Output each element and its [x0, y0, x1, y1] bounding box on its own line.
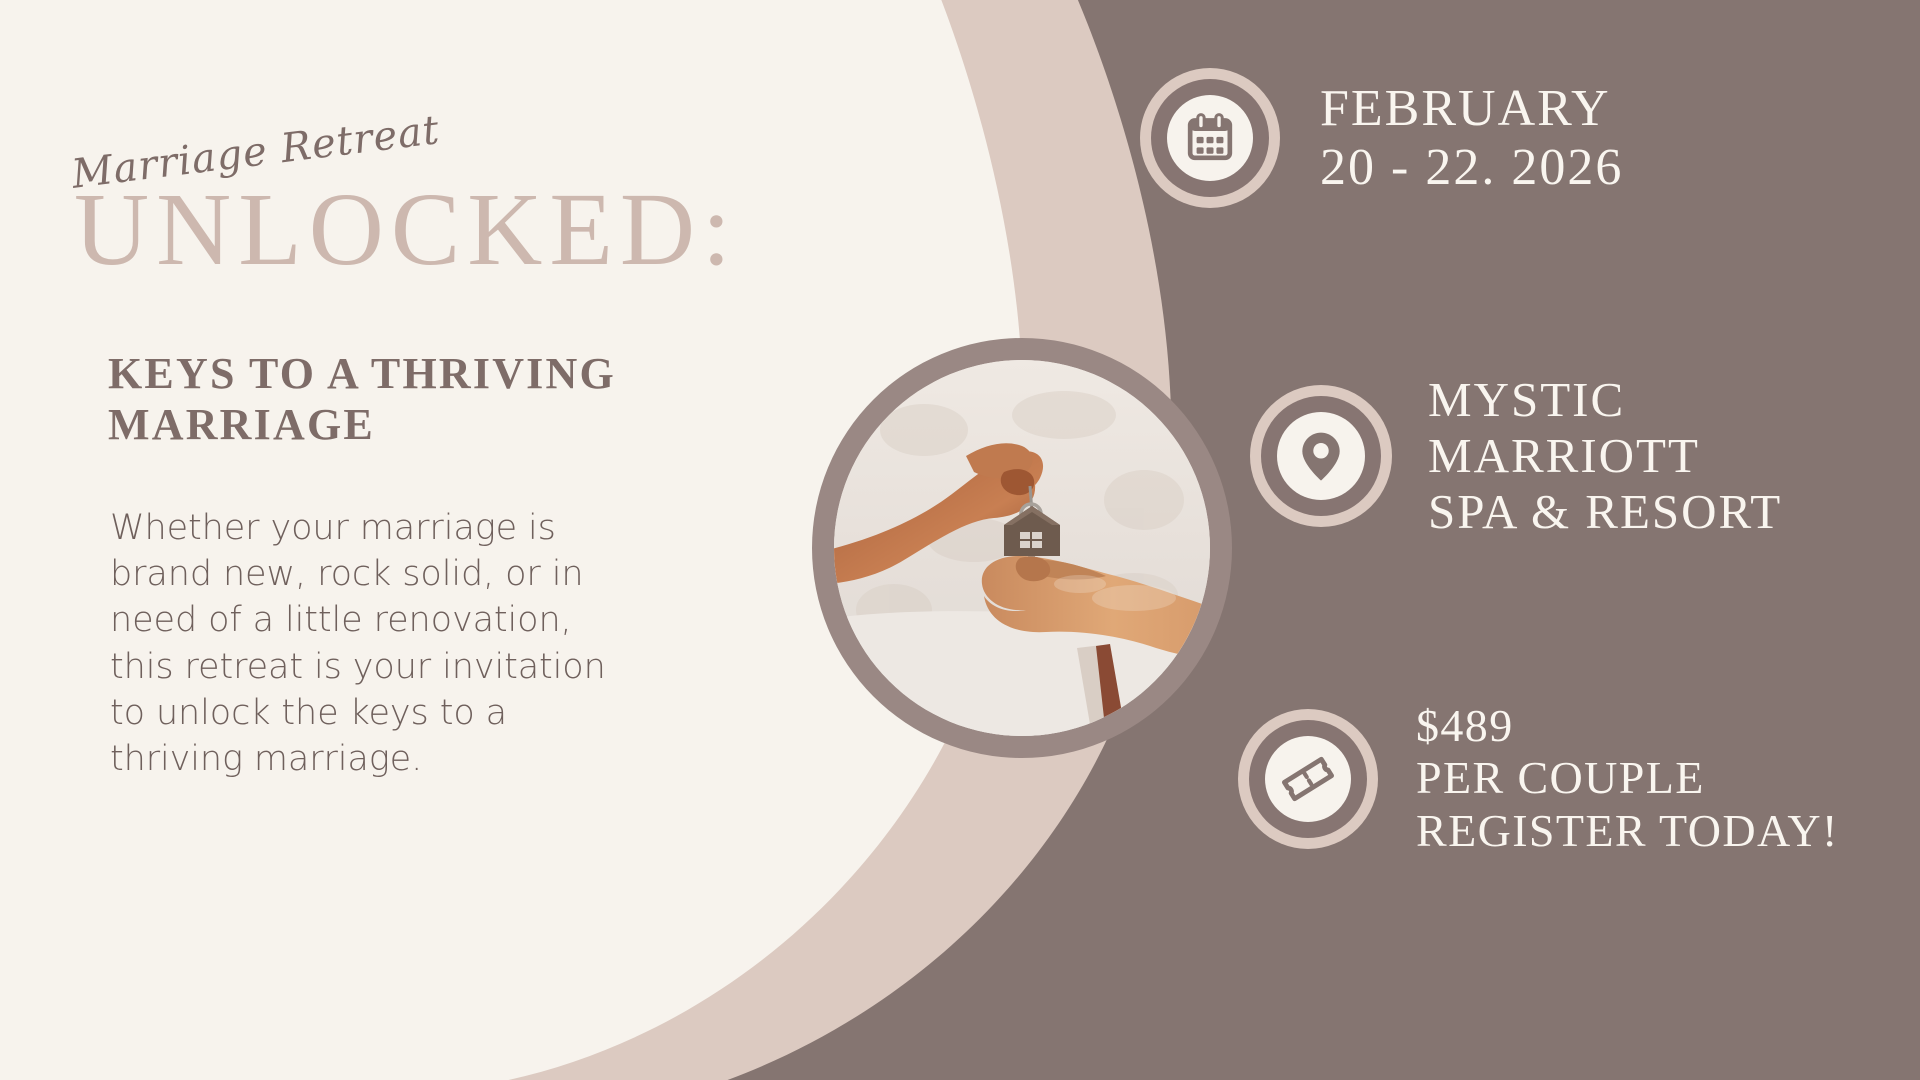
calendar-badge-disc	[1167, 95, 1253, 181]
left-content-column: Marriage Retreat UNLOCKED: Keys to a thr…	[0, 0, 760, 1080]
ticket-badge	[1238, 709, 1378, 849]
calendar-icon	[1182, 110, 1238, 166]
page-title: UNLOCKED:	[74, 178, 738, 282]
photo-circle-frame	[812, 338, 1232, 758]
photo-circle-image	[834, 360, 1210, 736]
price-text: $489 PER COUPLE REGISTER TODAY!	[1416, 700, 1839, 857]
location-pin-icon	[1293, 428, 1349, 484]
info-row-venue: MYSTIC MARRIOTT SPA & RESORT	[1250, 372, 1782, 540]
body-paragraph: Whether your marriage is brand new, rock…	[110, 505, 610, 782]
info-row-date: FEBRUARY 20 - 22. 2026	[1140, 68, 1623, 208]
location-badge-disc	[1277, 412, 1365, 500]
house-key-handoff-photo	[834, 360, 1210, 736]
location-badge	[1250, 385, 1392, 527]
subtitle: Keys to a thriving marriage	[108, 348, 718, 451]
ticket-icon	[1279, 750, 1337, 808]
location-badge-ring	[1261, 396, 1381, 516]
calendar-badge	[1140, 68, 1280, 208]
calendar-badge-ring	[1151, 79, 1269, 197]
date-text: FEBRUARY 20 - 22. 2026	[1320, 79, 1623, 198]
info-row-price: $489 PER COUPLE REGISTER TODAY!	[1238, 700, 1839, 857]
ticket-badge-disc	[1265, 736, 1351, 822]
venue-text: MYSTIC MARRIOTT SPA & RESORT	[1428, 372, 1782, 540]
ticket-badge-ring	[1249, 720, 1367, 838]
marriage-retreat-flyer: Marriage Retreat UNLOCKED: Keys to a thr…	[0, 0, 1920, 1080]
